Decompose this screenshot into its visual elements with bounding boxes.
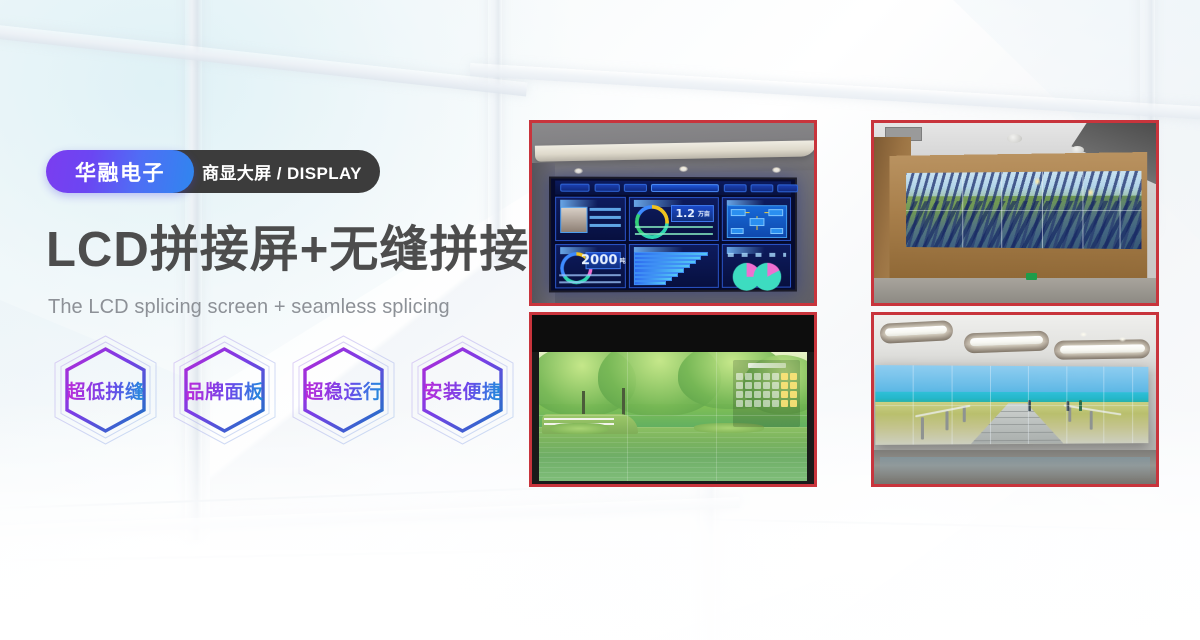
- photo1-bar: [634, 281, 666, 285]
- photo3-calendar-day: [763, 382, 770, 389]
- photo3-calendar-day: [790, 391, 797, 398]
- photo2-ceiling-dome: [1007, 134, 1022, 143]
- photo1-thumbnail: [560, 207, 588, 233]
- brand-badge: 华融电子: [46, 150, 194, 193]
- photo3-calendar-day: [763, 391, 770, 398]
- feature-label-2: 品牌面板: [185, 377, 263, 404]
- photo4-bezel-seam-h: [876, 405, 1149, 406]
- photo1-dashboard-topbar: [555, 181, 792, 195]
- photo3-calendar-day: [772, 382, 779, 389]
- photo3-calendar-day: [781, 400, 788, 407]
- photo1-text-lines: [590, 208, 622, 233]
- photo1-spotlight: [679, 166, 688, 172]
- photo1-kpi-value: 1.2: [676, 207, 695, 220]
- photo3-upper-bezel: [532, 315, 814, 352]
- photo3-calendar-day: [772, 391, 779, 398]
- photo1-topbar-chip: [624, 184, 647, 192]
- photo1-flow-node: [770, 228, 783, 234]
- photo1-panel-ranking: [629, 244, 720, 288]
- photo3-calendar-day: [736, 391, 743, 398]
- gallery-photo-control-room-dashboard[interactable]: 1.2 万亩: [529, 120, 817, 306]
- photo3-calendar-day: [736, 400, 743, 407]
- photo3-hedge: [550, 423, 609, 435]
- photo2-bezel-seam-h: [906, 209, 1141, 210]
- photo1-flow-link: [746, 213, 751, 214]
- photo2-exit-sign-icon: [1026, 273, 1037, 280]
- photo1-flow-node: [731, 228, 744, 234]
- photo3-calendar-day: [745, 391, 752, 398]
- banner-stage: 商显大屏 / DISPLAY 华融电子 LCD拼接屏+无缝拼接 The LCD …: [0, 0, 1200, 640]
- badge-row: 商显大屏 / DISPLAY 华融电子: [46, 150, 194, 193]
- photo1-panel-kpi: 1.2 万亩: [629, 197, 720, 241]
- feature-label-4: 安装便捷: [423, 377, 501, 404]
- photo1-kpi-card: 2000 吨: [586, 252, 622, 270]
- photo4-sky: [876, 365, 1149, 394]
- photo1-panel-yield: 2000 吨: [555, 244, 626, 288]
- photo1-legend: [635, 226, 713, 237]
- photo3-pond: [539, 427, 807, 481]
- photo4-light-tube: [1060, 344, 1145, 353]
- photo3-calendar-day: [754, 382, 761, 389]
- photo2-wall-lamp: [1035, 177, 1040, 186]
- photo4-deck-slat: [971, 432, 1064, 433]
- photo3-calendar-day: [772, 373, 779, 380]
- gallery-photo-solar-farm-wall[interactable]: [871, 120, 1159, 306]
- photo1-legend: [560, 274, 622, 286]
- photo1-panel-overview: [555, 196, 626, 240]
- photo1-kpi-unit: 吨: [620, 256, 626, 265]
- photo1-topbar-chip: [751, 184, 773, 192]
- photo3-calendar-day: [745, 373, 752, 380]
- photo1-panel-share: [723, 244, 792, 288]
- photo1-video-wall: 1.2 万亩: [549, 177, 797, 293]
- photo1-flow-node: [731, 209, 745, 216]
- photo3-calendar-day: [781, 373, 788, 380]
- photo3-calendar-day: [772, 400, 779, 407]
- photo4-rail-post: [963, 406, 966, 422]
- photo1-legend: [728, 253, 787, 256]
- photo1-topbar-chip: [595, 183, 620, 191]
- photo3-calendar-day: [781, 391, 788, 398]
- photo1-panel-caption: [560, 200, 598, 207]
- photo3-calendar-day: [754, 391, 761, 398]
- photo1-kpi-card: 1.2 万亩: [672, 205, 714, 222]
- photo1-flow-node: [750, 218, 764, 226]
- photo3-calendar-day: [745, 400, 752, 407]
- gallery-photo-willow-pond-wall[interactable]: [529, 312, 817, 487]
- photo3-calendar-day: [736, 382, 743, 389]
- photo3-calendar-day: [763, 400, 770, 407]
- photo4-video-wall: [876, 365, 1149, 445]
- photo1-kpi-unit: 万亩: [698, 209, 710, 218]
- photo1-flow-link: [757, 226, 758, 230]
- photo1-topbar-chip: [724, 184, 747, 192]
- photo1-bar-chart: [634, 252, 714, 286]
- feature-label-3: 超稳运行: [304, 377, 382, 404]
- photo3-calendar-overlay: [733, 360, 800, 427]
- photo4-downlight: [1080, 332, 1087, 337]
- photo3-calendar-day: [790, 373, 797, 380]
- photo2-video-wall: [906, 171, 1141, 249]
- photo3-bezel-seam: [716, 352, 717, 480]
- photo1-spotlight: [772, 167, 781, 173]
- photo1-flow-node: [769, 209, 783, 216]
- photo3-calendar-grid: [736, 373, 797, 407]
- photo1-topbar-chip: [778, 184, 798, 192]
- photo4-rail-post: [921, 417, 924, 439]
- photo4-floor-reflection: [880, 457, 1151, 481]
- photo1-flow-diagram: [727, 205, 788, 239]
- photo1-kpi-value: 2000: [581, 253, 618, 268]
- photo3-video-wall: [539, 352, 807, 480]
- photo1-topbar-chip: [560, 183, 590, 191]
- gallery-photo-beach-boardwalk-wall[interactable]: [871, 312, 1159, 487]
- photo3-calendar-day: [754, 373, 761, 380]
- photo3-calendar-day: [754, 400, 761, 407]
- photo3-water-reflection: [539, 427, 807, 481]
- photo1-panel-flow: [723, 197, 792, 241]
- photo3-bezel-seam: [627, 352, 628, 480]
- product-photo-gallery: 1.2 万亩: [0, 0, 1200, 640]
- photo3-calendar-day: [781, 382, 788, 389]
- photo3-calendar-day: [790, 400, 797, 407]
- photo3-bezel-seam-h: [539, 415, 807, 416]
- photo2-panel-rows-near: [906, 200, 1141, 248]
- photo1-flow-link: [764, 213, 769, 214]
- photo4-deck-slat: [971, 439, 1064, 441]
- photo3-calendar-day: [763, 373, 770, 380]
- photo3-calendar-day: [745, 382, 752, 389]
- photo3-calendar-day: [790, 382, 797, 389]
- photo3-fence-rail: [544, 418, 614, 420]
- photo3-calendar-title: [748, 363, 786, 368]
- photo2-floor: [874, 278, 1156, 303]
- photo3-calendar-day: [736, 373, 743, 380]
- photo2-wall-lamp: [1088, 188, 1093, 197]
- photo1-topbar-title-chip: [652, 184, 720, 192]
- feature-label-1: 超低拼缝: [66, 377, 144, 404]
- photo1-dashboard-grid: 1.2 万亩: [555, 196, 792, 288]
- photo1-pie-chart: [754, 262, 782, 290]
